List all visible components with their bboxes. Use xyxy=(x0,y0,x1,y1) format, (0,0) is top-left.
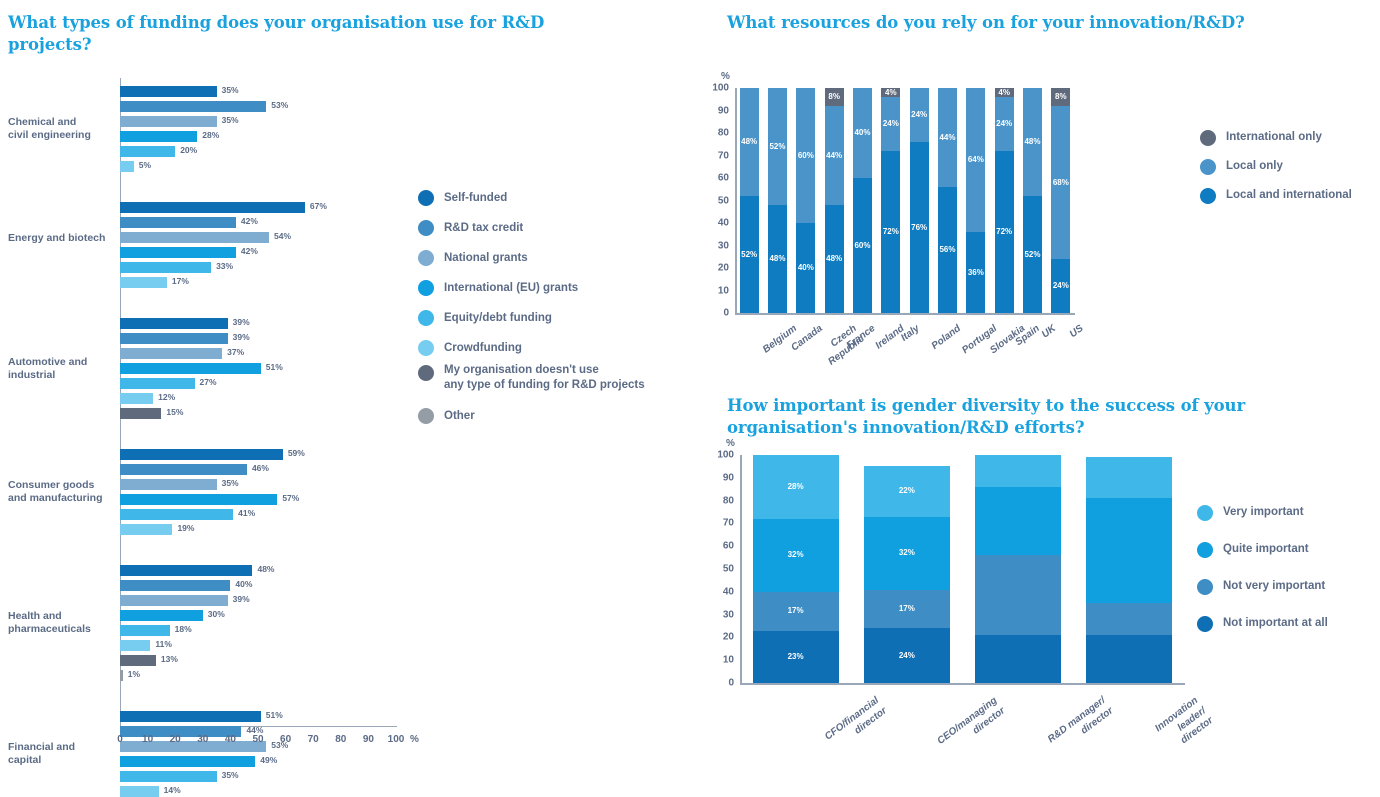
funding-bar xyxy=(120,161,134,172)
funding-bar xyxy=(120,670,123,681)
gender-segment: 17% xyxy=(753,592,839,631)
funding-bar-row: 19% xyxy=(120,524,400,535)
resources-segment: 24% xyxy=(910,88,929,142)
gender-segment xyxy=(1086,498,1172,603)
funding-bar-row: 39% xyxy=(120,333,400,344)
resources-y-tick: 60 xyxy=(703,173,729,184)
resources-chart-title: What resources do you rely on for your i… xyxy=(727,12,1327,34)
funding-bar-row: 35% xyxy=(120,479,400,490)
funding-bar-row: 67% xyxy=(120,202,400,213)
resources-segment: 64% xyxy=(966,88,985,232)
gender-segment xyxy=(975,455,1061,487)
funding-category-label: Health andpharmaceuticals xyxy=(8,610,116,637)
gender-column xyxy=(975,455,1061,683)
funding-bar-value: 15% xyxy=(166,407,183,417)
funding-bar-value: 39% xyxy=(233,332,250,342)
resources-column: 36%64% xyxy=(966,88,985,313)
funding-chart-title: What types of funding does your organisa… xyxy=(8,12,628,56)
funding-bar-value: 40% xyxy=(235,579,252,589)
resources-segment: 48% xyxy=(768,205,787,313)
funding-bar xyxy=(120,116,217,127)
funding-x-axis-unit: % xyxy=(410,734,419,745)
funding-bar-row: 28% xyxy=(120,131,400,142)
funding-bar-value: 19% xyxy=(177,523,194,533)
resources-y-tick: 40 xyxy=(703,218,729,229)
funding-bar-value: 46% xyxy=(252,463,269,473)
funding-bar-row: 49% xyxy=(120,756,400,767)
funding-bar-row: 1% xyxy=(120,670,400,681)
resources-y-tick: 0 xyxy=(703,308,729,319)
resources-segment-value: 48% xyxy=(1024,138,1040,146)
funding-bar-row: 48% xyxy=(120,565,400,576)
funding-bar-value: 48% xyxy=(257,564,274,574)
funding-bar-row: 12% xyxy=(120,393,400,404)
resources-y-tick: 90 xyxy=(703,105,729,116)
resources-segment: 36% xyxy=(966,232,985,313)
funding-bar-value: 39% xyxy=(233,594,250,604)
funding-bar-row: 5% xyxy=(120,161,400,172)
funding-bar xyxy=(120,131,197,142)
gender-column xyxy=(1086,455,1172,683)
resources-segment-value: 8% xyxy=(828,93,840,101)
legend-swatch-icon xyxy=(1197,505,1213,521)
gender-y-tick: 100 xyxy=(708,450,734,461)
gender-segment xyxy=(1086,457,1172,498)
funding-bar-row: 59% xyxy=(120,449,400,460)
funding-legend-item[interactable]: Self-funded xyxy=(418,183,645,213)
funding-bar-row: 17% xyxy=(120,277,400,288)
gender-segment xyxy=(1086,603,1172,635)
funding-category-label: Consumer goodsand manufacturing xyxy=(8,479,116,506)
legend-swatch-icon xyxy=(418,408,434,424)
resources-segment-value: 60% xyxy=(798,152,814,160)
funding-bar xyxy=(120,277,167,288)
funding-bar-value: 18% xyxy=(175,624,192,634)
funding-bar-value: 35% xyxy=(222,770,239,780)
funding-bar xyxy=(120,524,172,535)
gender-segment: 17% xyxy=(864,590,950,629)
gender-legend-label: Quite important xyxy=(1223,542,1309,557)
resources-segment: 48% xyxy=(1023,88,1042,196)
resources-segment-value: 64% xyxy=(968,156,984,164)
resources-segment-value: 48% xyxy=(826,255,842,263)
resources-y-axis-line xyxy=(735,88,737,313)
resources-segment-value: 48% xyxy=(741,138,757,146)
resources-y-tick: 100 xyxy=(703,83,729,94)
funding-bar-row: 13% xyxy=(120,655,400,666)
funding-bar xyxy=(120,625,170,636)
funding-bar-row: 53% xyxy=(120,101,400,112)
funding-bar-value: 33% xyxy=(216,261,233,271)
gender-y-tick: 70 xyxy=(708,518,734,529)
resources-column: 76%24% xyxy=(910,88,929,313)
gender-segment: 32% xyxy=(864,517,950,590)
legend-swatch-icon xyxy=(418,190,434,206)
gender-segment-value: 17% xyxy=(899,605,915,613)
funding-bar-row: 54% xyxy=(120,232,400,243)
funding-x-tick: 30 xyxy=(197,734,208,745)
funding-category-label: Financial andcapital xyxy=(8,741,116,768)
resources-segment: 8% xyxy=(1051,88,1070,106)
gender-y-tick: 10 xyxy=(708,655,734,666)
funding-bar-value: 5% xyxy=(139,160,151,170)
funding-legend-label: My organisation doesn't useany type of f… xyxy=(444,363,645,392)
resources-legend: International onlyLocal onlyLocal and in… xyxy=(1200,123,1352,210)
funding-bar-value: 51% xyxy=(266,710,283,720)
resources-segment: 8% xyxy=(825,88,844,106)
gender-segment xyxy=(975,555,1061,635)
funding-bar xyxy=(120,449,283,460)
gender-segment-value: 24% xyxy=(899,652,915,660)
funding-bar xyxy=(120,86,217,97)
resources-segment: 4% xyxy=(881,88,900,97)
funding-bar-row: 57% xyxy=(120,494,400,505)
gender-segment: 32% xyxy=(753,519,839,592)
resources-segment-value: 4% xyxy=(885,89,897,97)
gender-segment-value: 23% xyxy=(788,653,804,661)
gender-legend-item[interactable]: Quite important xyxy=(1197,531,1328,568)
legend-swatch-icon xyxy=(1200,130,1216,146)
funding-legend-label: National grants xyxy=(444,251,528,266)
funding-bar xyxy=(120,363,261,374)
legend-swatch-icon xyxy=(1200,159,1216,175)
funding-bar-value: 35% xyxy=(222,115,239,125)
legend-swatch-icon xyxy=(1197,579,1213,595)
funding-legend-item[interactable]: Other xyxy=(418,401,645,431)
gender-segment-value: 22% xyxy=(899,487,915,495)
gender-legend-label: Not very important xyxy=(1223,579,1325,594)
resources-y-tick: 20 xyxy=(703,263,729,274)
resources-segment-value: 52% xyxy=(769,143,785,151)
funding-bar xyxy=(120,771,217,782)
funding-x-axis-ticks: 0102030405060708090100% xyxy=(120,734,420,750)
gender-legend-item[interactable]: Very important xyxy=(1197,494,1328,531)
funding-bar xyxy=(120,786,159,797)
legend-swatch-icon xyxy=(418,250,434,266)
resources-y-tick: 80 xyxy=(703,128,729,139)
resources-segment: 52% xyxy=(1023,196,1042,313)
funding-bar xyxy=(120,101,266,112)
resources-column: 72%24%4% xyxy=(881,88,900,313)
legend-swatch-icon xyxy=(1197,616,1213,632)
resources-column: 48%52% xyxy=(768,88,787,313)
funding-bar-value: 30% xyxy=(208,609,225,619)
resources-segment: 52% xyxy=(740,196,759,313)
gender-column: 23%17%32%28% xyxy=(753,455,839,683)
funding-category-label: Chemical andcivil engineering xyxy=(8,116,116,143)
resources-column: 56%44% xyxy=(938,88,957,313)
funding-bar-row: 51% xyxy=(120,711,400,722)
funding-bar xyxy=(120,610,203,621)
legend-swatch-icon xyxy=(1200,188,1216,204)
funding-bar-value: 42% xyxy=(241,246,258,256)
resources-plot-area: 0102030405060708090100%52%48%Belgium48%5… xyxy=(735,88,1075,313)
resources-segment: 60% xyxy=(853,178,872,313)
funding-legend-item[interactable]: International (EU) grants xyxy=(418,273,645,303)
funding-bar xyxy=(120,247,236,258)
resources-segment-value: 60% xyxy=(854,242,870,250)
resources-legend-label: International only xyxy=(1226,130,1322,145)
funding-bar xyxy=(120,378,195,389)
gender-segment: 22% xyxy=(864,466,950,516)
funding-bar-row: 11% xyxy=(120,640,400,651)
funding-bar-value: 51% xyxy=(266,362,283,372)
funding-legend-item[interactable]: Equity/debt funding xyxy=(418,303,645,333)
resources-segment: 72% xyxy=(881,151,900,313)
resources-y-tick: 30 xyxy=(703,240,729,251)
funding-x-tick: 70 xyxy=(308,734,319,745)
gender-y-tick: 90 xyxy=(708,472,734,483)
gender-chart-title: How important is gender diversity to the… xyxy=(727,395,1327,439)
funding-bar-row: 39% xyxy=(120,318,400,329)
gender-segment-value: 28% xyxy=(788,483,804,491)
funding-bar-value: 42% xyxy=(241,216,258,226)
resources-legend-label: Local only xyxy=(1226,159,1283,174)
legend-swatch-icon xyxy=(418,310,434,326)
gender-legend-label: Not important at all xyxy=(1223,616,1328,631)
resources-segment: 76% xyxy=(910,142,929,313)
funding-bar-value: 41% xyxy=(238,508,255,518)
legend-swatch-icon xyxy=(1197,542,1213,558)
resources-segment: 24% xyxy=(881,97,900,151)
funding-bar-row: 30% xyxy=(120,610,400,621)
resources-segment: 72% xyxy=(995,151,1014,313)
resources-segment-value: 52% xyxy=(1024,251,1040,259)
funding-category-label: Automotive andindustrial xyxy=(8,356,116,383)
funding-bar xyxy=(120,232,269,243)
gender-y-tick: 40 xyxy=(708,586,734,597)
resources-segment-value: 48% xyxy=(769,255,785,263)
resources-segment: 44% xyxy=(825,106,844,205)
funding-legend-label: Crowdfunding xyxy=(444,341,522,356)
resources-segment: 4% xyxy=(995,88,1014,97)
legend-swatch-icon xyxy=(418,365,434,381)
funding-bar-row: 15% xyxy=(120,408,400,419)
funding-x-tick: 20 xyxy=(170,734,181,745)
funding-bar-value: 11% xyxy=(155,639,172,649)
resources-segment-value: 72% xyxy=(996,228,1012,236)
resources-segment-value: 56% xyxy=(939,246,955,254)
funding-bar-value: 13% xyxy=(161,654,178,664)
resources-segment: 56% xyxy=(938,187,957,313)
legend-swatch-icon xyxy=(418,280,434,296)
resources-segment-value: 24% xyxy=(1053,282,1069,290)
funding-bar xyxy=(120,146,175,157)
funding-bar xyxy=(120,595,228,606)
funding-bar-row: 35% xyxy=(120,116,400,127)
gender-segment-value: 32% xyxy=(788,551,804,559)
gender-column: 24%17%32%22% xyxy=(864,455,950,683)
gender-segment-value: 17% xyxy=(788,607,804,615)
funding-bar-value: 35% xyxy=(222,85,239,95)
resources-segment: 44% xyxy=(938,88,957,187)
resources-column: 48%44%8% xyxy=(825,88,844,313)
gender-legend-item[interactable]: Not very important xyxy=(1197,568,1328,605)
funding-x-tick: 60 xyxy=(280,734,291,745)
funding-bar-value: 28% xyxy=(202,130,219,140)
funding-bar-row: 51% xyxy=(120,363,400,374)
resources-segment-value: 44% xyxy=(826,152,842,160)
funding-bar-value: 54% xyxy=(274,231,291,241)
resources-segment: 48% xyxy=(825,205,844,313)
resources-segment: 24% xyxy=(1051,259,1070,313)
funding-bar-value: 53% xyxy=(271,100,288,110)
funding-x-tick: 0 xyxy=(117,734,123,745)
funding-bar-row: 18% xyxy=(120,625,400,636)
funding-bar xyxy=(120,333,228,344)
resources-segment-value: 72% xyxy=(883,228,899,236)
resources-x-axis-line xyxy=(735,313,1075,315)
funding-bar xyxy=(120,479,217,490)
funding-bar-value: 35% xyxy=(222,478,239,488)
funding-x-tick: 90 xyxy=(363,734,374,745)
funding-bar xyxy=(120,640,150,651)
gender-y-axis-line xyxy=(740,455,742,683)
funding-legend-label: Other xyxy=(444,409,475,424)
funding-x-tick: 10 xyxy=(142,734,153,745)
resources-segment: 40% xyxy=(796,223,815,313)
funding-bar xyxy=(120,565,252,576)
funding-legend: Self-fundedR&D tax creditNational grants… xyxy=(418,183,645,431)
funding-bar xyxy=(120,756,255,767)
funding-bar-value: 39% xyxy=(233,317,250,327)
funding-bar xyxy=(120,509,233,520)
funding-x-tick: 100 xyxy=(388,734,405,745)
funding-bar xyxy=(120,393,153,404)
funding-bar-row: 35% xyxy=(120,771,400,782)
resources-segment-value: 76% xyxy=(911,224,927,232)
funding-bar-value: 12% xyxy=(158,392,175,402)
funding-bar xyxy=(120,202,305,213)
funding-bar xyxy=(120,580,230,591)
resources-segment: 52% xyxy=(768,88,787,205)
resources-segment-value: 36% xyxy=(968,269,984,277)
funding-x-tick: 40 xyxy=(225,734,236,745)
funding-legend-item[interactable]: R&D tax credit xyxy=(418,213,645,243)
resources-y-axis-unit: % xyxy=(721,71,730,82)
funding-bar-value: 1% xyxy=(128,669,140,679)
gender-y-tick: 20 xyxy=(708,632,734,643)
resources-segment: 40% xyxy=(853,88,872,178)
funding-bar-row: 39% xyxy=(120,595,400,606)
funding-bar xyxy=(120,464,247,475)
funding-bar xyxy=(120,494,277,505)
funding-bar-row: 14% xyxy=(120,786,400,797)
resources-column: 40%60% xyxy=(796,88,815,313)
funding-legend-label: Equity/debt funding xyxy=(444,311,552,326)
funding-bar xyxy=(120,348,222,359)
resources-column: 60%40% xyxy=(853,88,872,313)
funding-bar-value: 37% xyxy=(227,347,244,357)
gender-y-tick: 60 xyxy=(708,541,734,552)
funding-legend-item[interactable]: National grants xyxy=(418,243,645,273)
resources-segment-value: 40% xyxy=(854,129,870,137)
gender-segment xyxy=(975,487,1061,555)
funding-x-tick: 50 xyxy=(252,734,263,745)
gender-segment: 24% xyxy=(864,628,950,683)
resources-y-tick: 50 xyxy=(703,195,729,206)
funding-bar-value: 27% xyxy=(200,377,217,387)
resources-segment-value: 68% xyxy=(1053,179,1069,187)
resources-legend-item[interactable]: International only xyxy=(1200,123,1352,152)
gender-segment xyxy=(975,635,1061,683)
funding-bar-row: 37% xyxy=(120,348,400,359)
gender-segment: 23% xyxy=(753,631,839,683)
funding-legend-item[interactable]: My organisation doesn't useany type of f… xyxy=(418,363,645,401)
resources-segment-value: 8% xyxy=(1055,93,1067,101)
resources-legend-label: Local and international xyxy=(1226,188,1352,203)
funding-bar-value: 49% xyxy=(260,755,277,765)
gender-segment: 28% xyxy=(753,455,839,519)
resources-legend-item[interactable]: Local and international xyxy=(1200,181,1352,210)
funding-bar-value: 67% xyxy=(310,201,327,211)
funding-bar-value: 20% xyxy=(180,145,197,155)
funding-bar xyxy=(120,408,161,419)
funding-legend-label: International (EU) grants xyxy=(444,281,578,296)
resources-segment-value: 4% xyxy=(998,89,1010,97)
resources-column: 72%24%4% xyxy=(995,88,1014,313)
resources-column: 52%48% xyxy=(1023,88,1042,313)
funding-category-label: Energy and biotech xyxy=(8,232,116,245)
funding-chart-panel: What types of funding does your organisa… xyxy=(0,0,700,767)
funding-bar xyxy=(120,318,228,329)
resources-segment: 48% xyxy=(740,88,759,196)
funding-bar xyxy=(120,655,156,666)
resources-segment-value: 24% xyxy=(911,111,927,119)
funding-plot-area: 35%53%35%28%20%5%Chemical andcivil engin… xyxy=(0,78,420,738)
funding-bar-row: 20% xyxy=(120,146,400,157)
funding-x-tick: 80 xyxy=(335,734,346,745)
gender-segment-value: 32% xyxy=(899,549,915,557)
funding-legend-label: R&D tax credit xyxy=(444,221,523,236)
resources-segment-value: 44% xyxy=(939,134,955,142)
funding-legend-item[interactable]: Crowdfunding xyxy=(418,333,645,363)
funding-bar xyxy=(120,262,211,273)
funding-bar-row: 35% xyxy=(120,86,400,97)
gender-x-axis-line xyxy=(740,683,1185,685)
gender-legend-item[interactable]: Not important at all xyxy=(1197,605,1328,642)
resources-segment: 68% xyxy=(1051,106,1070,259)
funding-bar xyxy=(120,711,261,722)
funding-bar-value: 17% xyxy=(172,276,189,286)
gender-plot-area: 0102030405060708090100%23%17%32%28%CFO/f… xyxy=(740,455,1185,683)
funding-bar-row: 42% xyxy=(120,247,400,258)
funding-bar-row: 41% xyxy=(120,509,400,520)
resources-segment-value: 24% xyxy=(883,120,899,128)
gender-y-tick: 80 xyxy=(708,495,734,506)
funding-bar-value: 59% xyxy=(288,448,305,458)
gender-segment xyxy=(1086,635,1172,683)
funding-legend-label: Self-funded xyxy=(444,191,507,206)
funding-bar-row: 33% xyxy=(120,262,400,273)
resources-segment: 60% xyxy=(796,88,815,223)
resources-y-tick: 10 xyxy=(703,285,729,296)
gender-y-tick: 30 xyxy=(708,609,734,620)
funding-bar-value: 57% xyxy=(282,493,299,503)
resources-column: 52%48% xyxy=(740,88,759,313)
funding-bar xyxy=(120,217,236,228)
funding-bar-value: 14% xyxy=(164,785,181,795)
funding-bar-row: 27% xyxy=(120,378,400,389)
resources-segment: 24% xyxy=(995,97,1014,151)
resources-y-tick: 70 xyxy=(703,150,729,161)
funding-bar-row: 40% xyxy=(120,580,400,591)
gender-y-tick: 0 xyxy=(708,678,734,689)
gender-y-axis-unit: % xyxy=(726,438,735,449)
resources-legend-item[interactable]: Local only xyxy=(1200,152,1352,181)
resources-segment-value: 52% xyxy=(741,251,757,259)
resources-segment-value: 40% xyxy=(798,264,814,272)
